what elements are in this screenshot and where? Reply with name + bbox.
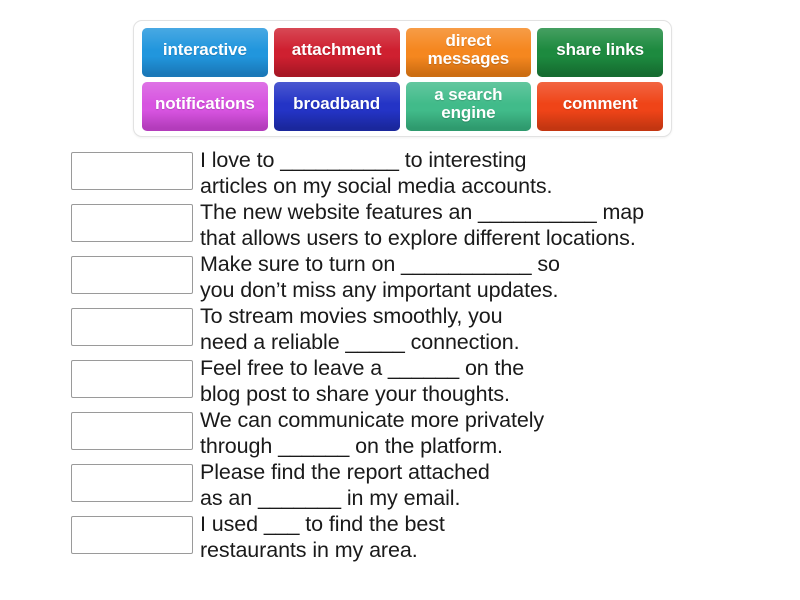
word-tile-label: notifications: [155, 95, 255, 113]
word-tile-label: broadband: [293, 95, 380, 113]
sentence-text: The new website features an __________ m…: [200, 199, 800, 251]
sentence-text: I love to __________ to interesting arti…: [200, 147, 800, 199]
sentence-row: I used ___ to find the best restaurants …: [0, 511, 800, 563]
sentence-row: Please find the report attached as an __…: [0, 459, 800, 511]
word-tile-comment[interactable]: comment: [537, 82, 663, 131]
sentence-row: We can communicate more privately throug…: [0, 407, 800, 459]
answer-dropzone[interactable]: [71, 464, 193, 502]
sentence-row: To stream movies smoothly, you need a re…: [0, 303, 800, 355]
word-tile-attachment[interactable]: attachment: [274, 28, 400, 77]
word-tile-a-search-engine[interactable]: a search engine: [406, 82, 532, 131]
sentence-text: To stream movies smoothly, you need a re…: [200, 303, 800, 355]
answer-dropzone[interactable]: [71, 360, 193, 398]
sentence-row: Feel free to leave a ______ on the blog …: [0, 355, 800, 407]
answer-dropzone[interactable]: [71, 516, 193, 554]
answer-dropzone[interactable]: [71, 412, 193, 450]
match-up-activity-page: interactive attachment direct messages s…: [0, 0, 800, 600]
word-tile-interactive[interactable]: interactive: [142, 28, 268, 77]
word-tile-label: a search engine: [410, 86, 528, 123]
word-bank-row-1: interactive attachment direct messages s…: [142, 28, 663, 77]
word-bank-row-2: notifications broadband a search engine …: [142, 82, 663, 131]
answer-dropzone[interactable]: [71, 204, 193, 242]
answer-dropzone[interactable]: [71, 152, 193, 190]
word-tile-broadband[interactable]: broadband: [274, 82, 400, 131]
sentence-text: Make sure to turn on ___________ so you …: [200, 251, 800, 303]
word-bank-panel: interactive attachment direct messages s…: [133, 20, 672, 137]
sentence-text: We can communicate more privately throug…: [200, 407, 800, 459]
word-tile-label: interactive: [163, 41, 247, 59]
word-tile-label: share links: [556, 41, 644, 59]
word-tile-label: direct messages: [410, 32, 528, 69]
sentence-row: Make sure to turn on ___________ so you …: [0, 251, 800, 303]
answer-dropzone[interactable]: [71, 308, 193, 346]
sentence-row: I love to __________ to interesting arti…: [0, 147, 800, 199]
sentence-list: I love to __________ to interesting arti…: [0, 147, 800, 563]
word-tile-notifications[interactable]: notifications: [142, 82, 268, 131]
word-tile-label: comment: [563, 95, 638, 113]
sentence-text: Please find the report attached as an __…: [200, 459, 800, 511]
word-tile-share-links[interactable]: share links: [537, 28, 663, 77]
sentence-row: The new website features an __________ m…: [0, 199, 800, 251]
answer-dropzone[interactable]: [71, 256, 193, 294]
sentence-text: Feel free to leave a ______ on the blog …: [200, 355, 800, 407]
word-tile-direct-messages[interactable]: direct messages: [406, 28, 532, 77]
sentence-text: I used ___ to find the best restaurants …: [200, 511, 800, 563]
word-tile-label: attachment: [292, 41, 382, 59]
